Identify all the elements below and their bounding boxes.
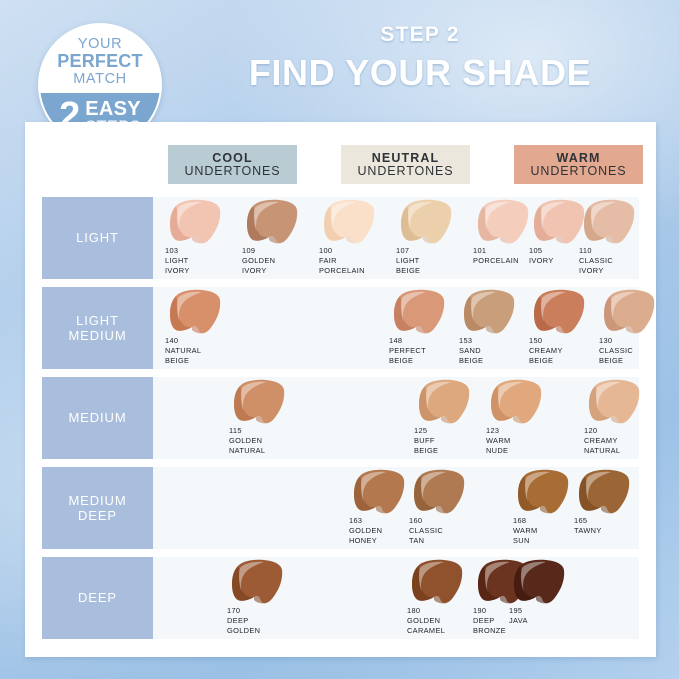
foundation-smear-shape	[228, 559, 290, 605]
shade-swatch[interactable]: 150CREAMYBEIGE	[527, 289, 603, 369]
shade-code: 130	[599, 336, 633, 346]
shade-smear	[390, 289, 452, 335]
shade-swatch[interactable]: 125BUFFBEIGE	[412, 379, 488, 459]
shade-code: 109	[242, 246, 275, 256]
foundation-smear-shape	[415, 379, 477, 425]
column-header-cool-sub: UNDERTONES	[184, 165, 280, 178]
shade-name-line: BRONZE	[473, 626, 506, 636]
shade-smear	[166, 199, 228, 245]
shade-label: 150CREAMYBEIGE	[529, 336, 563, 365]
shade-code: 123	[486, 426, 511, 436]
shade-swatch[interactable]: 110CLASSICIVORY	[577, 199, 653, 279]
shade-smear	[580, 199, 642, 245]
shade-name-line: CREAMY	[584, 436, 620, 446]
shade-swatch[interactable]: 123WARMNUDE	[484, 379, 560, 459]
shade-swatch[interactable]: 120CREAMYNATURAL	[582, 379, 658, 459]
column-header-cool: COOL UNDERTONES	[168, 145, 297, 184]
shade-row: LIGHT103LIGHTIVORY109GOLDENIVORY100FAIRP…	[25, 197, 656, 287]
shade-code: 148	[389, 336, 426, 346]
shade-smear	[510, 559, 572, 605]
swatch-group: 170DEEPGOLDEN180GOLDENCARAMEL190DEEPBRON…	[25, 557, 656, 639]
foundation-smear-shape	[460, 289, 522, 335]
shade-label: 110CLASSICIVORY	[579, 246, 613, 275]
shade-label: 107LIGHTBEIGE	[396, 246, 420, 275]
shade-chart-card: COOL UNDERTONES NEUTRAL UNDERTONES WARM …	[25, 122, 656, 657]
foundation-smear-shape	[410, 469, 472, 515]
shade-smear	[228, 559, 290, 605]
shade-swatch[interactable]: 103LIGHTIVORY	[163, 199, 239, 279]
shade-name-line: IVORY	[579, 266, 613, 276]
shade-name-line: DEEP	[473, 616, 506, 626]
shade-label: 165TAWNY	[574, 516, 602, 536]
shade-name-line: NUDE	[486, 446, 511, 456]
shade-smear	[397, 199, 459, 245]
shade-name-line: NATURAL	[229, 446, 265, 456]
shade-code: 168	[513, 516, 538, 526]
shade-name-line: BUFF	[414, 436, 438, 446]
foundation-smear-shape	[575, 469, 637, 515]
column-header-neutral: NEUTRAL UNDERTONES	[341, 145, 470, 184]
shade-smear	[230, 379, 292, 425]
shade-name-line: TAN	[409, 536, 443, 546]
shade-smear	[487, 379, 549, 425]
shade-label: 125BUFFBEIGE	[414, 426, 438, 455]
shade-label: 153SANDBEIGE	[459, 336, 483, 365]
foundation-smear-shape	[408, 559, 470, 605]
shade-swatch[interactable]: 160CLASSICTAN	[407, 469, 483, 549]
shade-label: 163GOLDENHONEY	[349, 516, 382, 545]
shade-code: 120	[584, 426, 620, 436]
shade-label: 109GOLDENIVORY	[242, 246, 275, 275]
shade-code: 165	[574, 516, 602, 526]
shade-code: 140	[165, 336, 201, 346]
badge-top-text: YOUR PERFECT MATCH	[40, 25, 160, 93]
shade-label: 105IVORY	[529, 246, 554, 266]
shade-name-line: LIGHT	[396, 256, 420, 266]
foundation-smear-shape	[600, 289, 662, 335]
shade-swatch[interactable]: 148PERFECTBEIGE	[387, 289, 463, 369]
shade-code: 150	[529, 336, 563, 346]
shade-name-line: PORCELAIN	[473, 256, 519, 266]
foundation-smear-shape	[510, 559, 572, 605]
shade-label: 120CREAMYNATURAL	[584, 426, 620, 455]
shade-name-line: GOLDEN	[349, 526, 382, 536]
shade-smear	[514, 469, 576, 515]
foundation-smear-shape	[166, 199, 228, 245]
shade-swatch[interactable]: 100FAIRPORCELAIN	[317, 199, 393, 279]
foundation-smear-shape	[350, 469, 412, 515]
shade-row: DEEP170DEEPGOLDEN180GOLDENCARAMEL190DEEP…	[25, 557, 656, 647]
foundation-smear-shape	[166, 289, 228, 335]
shade-swatch[interactable]: 180GOLDENCARAMEL	[405, 559, 481, 639]
shade-name-line: PERFECT	[389, 346, 426, 356]
shade-smear	[350, 469, 412, 515]
shade-name-line: BEIGE	[599, 356, 633, 366]
shade-swatch[interactable]: 153SANDBEIGE	[457, 289, 533, 369]
shade-label: 170DEEPGOLDEN	[227, 606, 260, 635]
shade-name-line: HONEY	[349, 536, 382, 546]
shade-rows: LIGHT103LIGHTIVORY109GOLDENIVORY100FAIRP…	[25, 197, 656, 647]
shade-name-line: BEIGE	[165, 356, 201, 366]
shade-name-line: WARM	[513, 526, 538, 536]
shade-row: LIGHTMEDIUM140NATURALBEIGE148PERFECTBEIG…	[25, 287, 656, 377]
swatch-group: 103LIGHTIVORY109GOLDENIVORY100FAIRPORCEL…	[25, 197, 656, 279]
shade-smear	[415, 379, 477, 425]
shade-code: 115	[229, 426, 265, 436]
shade-code: 103	[165, 246, 190, 256]
shade-row: MEDIUM115GOLDENNATURAL125BUFFBEIGE123WAR…	[25, 377, 656, 467]
shade-swatch[interactable]: 130CLASSICBEIGE	[597, 289, 673, 369]
shade-smear	[320, 199, 382, 245]
column-header-warm-sub: UNDERTONES	[530, 165, 626, 178]
shade-label: 180GOLDENCARAMEL	[407, 606, 445, 635]
shade-label: 100FAIRPORCELAIN	[319, 246, 365, 275]
shade-code: 100	[319, 246, 365, 256]
foundation-smear-shape	[580, 199, 642, 245]
foundation-smear-shape	[390, 289, 452, 335]
shade-label: 101PORCELAIN	[473, 246, 519, 266]
shade-label: 115GOLDENNATURAL	[229, 426, 265, 455]
shade-label: 168WARMSUN	[513, 516, 538, 545]
shade-label: 123WARMNUDE	[486, 426, 511, 455]
shade-code: 101	[473, 246, 519, 256]
column-header-warm-title: WARM	[557, 152, 601, 165]
shade-code: 170	[227, 606, 260, 616]
shade-label: 148PERFECTBEIGE	[389, 336, 426, 365]
shade-smear	[410, 469, 472, 515]
shade-name-line: GOLDEN	[242, 256, 275, 266]
shade-swatch[interactable]: 109GOLDENIVORY	[240, 199, 316, 279]
shade-label: 160CLASSICTAN	[409, 516, 443, 545]
shade-smear	[460, 289, 522, 335]
foundation-smear-shape	[397, 199, 459, 245]
foundation-smear-shape	[487, 379, 549, 425]
shade-code: 190	[473, 606, 506, 616]
shade-name-line: GOLDEN	[229, 436, 265, 446]
foundation-smear-shape	[530, 289, 592, 335]
shade-name-line: IVORY	[242, 266, 275, 276]
foundation-smear-shape	[320, 199, 382, 245]
shade-swatch[interactable]: 195JAVA	[507, 559, 583, 639]
shade-code: 107	[396, 246, 420, 256]
foundation-smear-shape	[585, 379, 647, 425]
shade-code: 105	[529, 246, 554, 256]
shade-name-line: SUN	[513, 536, 538, 546]
column-headers: COOL UNDERTONES NEUTRAL UNDERTONES WARM …	[25, 145, 656, 185]
badge-line-match: MATCH	[73, 72, 126, 88]
shade-name-line: IVORY	[529, 256, 554, 266]
shade-swatch[interactable]: 165TAWNY	[572, 469, 648, 549]
column-header-cool-title: COOL	[212, 152, 253, 165]
swatch-group: 140NATURALBEIGE148PERFECTBEIGE153SANDBEI…	[25, 287, 656, 369]
shade-swatch[interactable]: 115GOLDENNATURAL	[227, 379, 303, 459]
shade-name-line: BEIGE	[414, 446, 438, 456]
shade-code: 163	[349, 516, 382, 526]
shade-name-line: TAWNY	[574, 526, 602, 536]
shade-label: 140NATURALBEIGE	[165, 336, 201, 365]
shade-name-line: GOLDEN	[407, 616, 445, 626]
shade-code: 180	[407, 606, 445, 616]
shade-name-line: CREAMY	[529, 346, 563, 356]
shade-smear	[585, 379, 647, 425]
shade-name-line: LIGHT	[165, 256, 190, 266]
shade-name-line: BEIGE	[389, 356, 426, 366]
badge-line-easy: EASY	[85, 99, 141, 119]
foundation-smear-shape	[514, 469, 576, 515]
foundation-smear-shape	[243, 199, 305, 245]
shade-name-line: SAND	[459, 346, 483, 356]
shade-smear	[530, 289, 592, 335]
shade-name-line: BEIGE	[396, 266, 420, 276]
shade-code: 160	[409, 516, 443, 526]
shade-name-line: CLASSIC	[599, 346, 633, 356]
shade-name-line: BEIGE	[459, 356, 483, 366]
shade-smear	[600, 289, 662, 335]
shade-name-line: WARM	[486, 436, 511, 446]
shade-label: 190DEEPBRONZE	[473, 606, 506, 635]
column-header-neutral-sub: UNDERTONES	[357, 165, 453, 178]
shade-smear	[408, 559, 470, 605]
shade-name-line: NATURAL	[584, 446, 620, 456]
shade-label: 103LIGHTIVORY	[165, 246, 190, 275]
shade-name-line: CLASSIC	[579, 256, 613, 266]
shade-smear	[243, 199, 305, 245]
swatch-group: 115GOLDENNATURAL125BUFFBEIGE123WARMNUDE1…	[25, 377, 656, 459]
step-label: STEP 2	[185, 24, 655, 45]
shade-name-line: PORCELAIN	[319, 266, 365, 276]
badge-line-perfect: PERFECT	[57, 52, 142, 71]
shade-code: 125	[414, 426, 438, 436]
shade-name-line: DEEP	[227, 616, 260, 626]
shade-swatch[interactable]: 170DEEPGOLDEN	[225, 559, 301, 639]
shade-swatch[interactable]: 107LIGHTBEIGE	[394, 199, 470, 279]
foundation-smear-shape	[230, 379, 292, 425]
shade-name-line: CLASSIC	[409, 526, 443, 536]
shade-smear	[166, 289, 228, 335]
shade-label: 130CLASSICBEIGE	[599, 336, 633, 365]
shade-swatch[interactable]: 140NATURALBEIGE	[163, 289, 239, 369]
shade-name-line: CARAMEL	[407, 626, 445, 636]
shade-row: MEDIUMDEEP163GOLDENHONEY160CLASSICTAN168…	[25, 467, 656, 557]
page-title: FIND YOUR SHADE	[185, 52, 655, 93]
shade-label: 195JAVA	[509, 606, 528, 626]
shade-name-line: FAIR	[319, 256, 365, 266]
shade-name-line: GOLDEN	[227, 626, 260, 636]
column-header-neutral-title: NEUTRAL	[372, 152, 439, 165]
shade-code: 110	[579, 246, 613, 256]
badge-line-your: YOUR	[78, 37, 122, 53]
shade-code: 195	[509, 606, 528, 616]
shade-name-line: JAVA	[509, 616, 528, 626]
shade-smear	[575, 469, 637, 515]
header: STEP 2 FIND YOUR SHADE	[185, 24, 655, 93]
swatch-group: 163GOLDENHONEY160CLASSICTAN168WARMSUN165…	[25, 467, 656, 549]
shade-name-line: BEIGE	[529, 356, 563, 366]
shade-name-line: NATURAL	[165, 346, 201, 356]
shade-code: 153	[459, 336, 483, 346]
shade-name-line: IVORY	[165, 266, 190, 276]
column-header-warm: WARM UNDERTONES	[514, 145, 643, 184]
